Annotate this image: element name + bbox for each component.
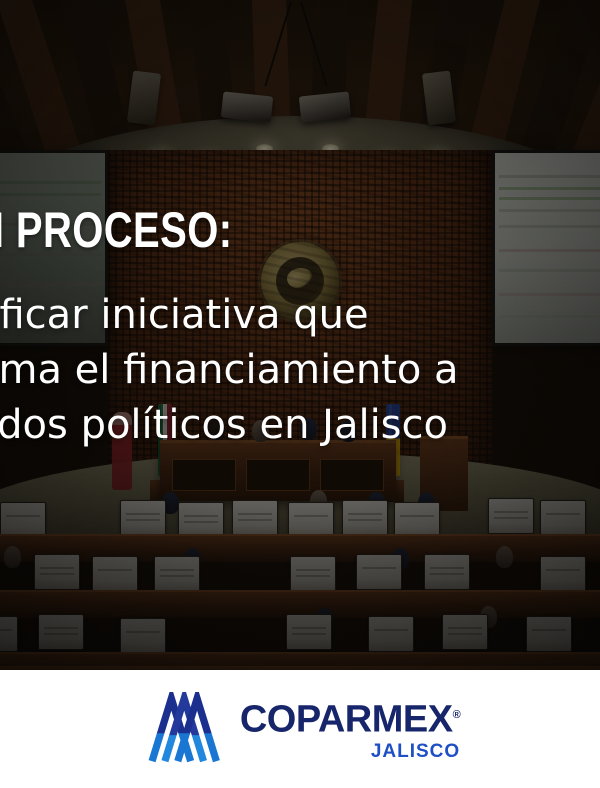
presidium-member — [300, 418, 317, 440]
coparmex-wordmark: COPARMEX® JALISCO — [240, 695, 460, 763]
left-projection-screen — [0, 150, 108, 346]
ceiling-projector-right — [299, 91, 351, 122]
registered-mark: ® — [453, 709, 461, 721]
legislator-seating — [0, 498, 600, 670]
right-projection-screen — [492, 150, 600, 346]
presidium-desk — [160, 440, 396, 501]
social-post-card: EN PROCESO: Modificar iniciativa que ref… — [0, 0, 600, 788]
presidium-member — [340, 420, 357, 442]
background-photo: EN PROCESO: Modificar iniciativa que ref… — [0, 0, 600, 670]
mexican-coat-of-arms — [261, 242, 339, 320]
presidium-member — [208, 418, 225, 440]
chapter-name: JALISCO — [371, 741, 460, 763]
presidium-member — [252, 420, 269, 442]
brand-name-text: COPARMEX — [240, 699, 453, 741]
brand-name: COPARMEX® — [240, 695, 460, 740]
ceiling-projector-left — [221, 91, 273, 122]
coparmex-logo-mark — [140, 692, 222, 766]
speaker-at-rostrum — [112, 412, 132, 490]
brand-footer: COPARMEX® JALISCO — [0, 670, 600, 788]
